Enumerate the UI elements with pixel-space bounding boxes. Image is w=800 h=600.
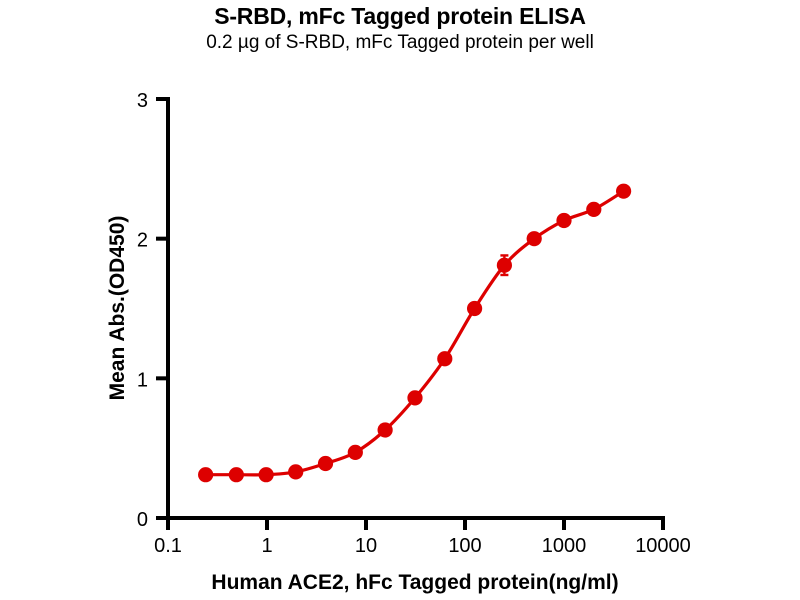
x-tick-label-3: 100 xyxy=(448,535,481,557)
y-tick-label-2: 2 xyxy=(137,230,148,252)
series-layer: 0.24 ng/ml, OD450 0.310.49 ng/ml, OD450 … xyxy=(198,184,631,483)
tick-label-layer: 0.11101001000100000123 xyxy=(137,90,691,557)
x-tick-label-0: 0.1 xyxy=(154,535,182,557)
x-tick-label-4: 1000 xyxy=(542,535,587,557)
elisa-chart-figure: S-RBD, mFc Tagged protein ELISA 0.2 µg o… xyxy=(0,0,800,600)
x-tick-label-1: 1 xyxy=(261,535,272,557)
data-point: 0.24 ng/ml, OD450 0.31 xyxy=(198,467,213,482)
x-tick-label-5: 10000 xyxy=(635,535,691,557)
data-point: 1.95 ng/ml, OD450 0.33 xyxy=(288,464,303,479)
y-tick-label-1: 1 xyxy=(137,369,148,391)
data-point: 1000 ng/ml, OD450 2.13 xyxy=(556,213,571,228)
data-point: 500 ng/ml, OD450 2 xyxy=(527,231,542,246)
plot-area: 0.24 ng/ml, OD450 0.310.49 ng/ml, OD450 … xyxy=(0,0,800,600)
data-point: 62.5 ng/ml, OD450 1.14 xyxy=(437,351,452,366)
x-tick-label-2: 10 xyxy=(355,535,377,557)
data-point: 7.8 ng/ml, OD450 0.47 xyxy=(348,445,363,460)
data-point: 31.25 ng/ml, OD450 0.86 xyxy=(407,390,422,405)
axis-layer xyxy=(156,99,663,530)
data-point: 15.6 ng/ml, OD450 0.63 xyxy=(378,422,393,437)
x-axis-title: Human ACE2, hFc Tagged protein(ng/ml) xyxy=(211,571,618,594)
data-point: 0.98 ng/ml, OD450 0.31 xyxy=(259,467,274,482)
data-point: 0.49 ng/ml, OD450 0.31 xyxy=(229,467,244,482)
data-point: 2000 ng/ml, OD450 2.21 xyxy=(586,202,601,217)
data-point: 125 ng/ml, OD450 1.5 xyxy=(467,301,482,316)
y-axis-title: Mean Abs.(OD450) xyxy=(106,216,129,401)
data-point: 3.9 ng/ml, OD450 0.39 xyxy=(318,456,333,471)
series-fit-curve-0 xyxy=(206,191,624,475)
y-tick-label-3: 3 xyxy=(137,90,148,112)
data-point: 4000 ng/ml, OD450 2.34 xyxy=(616,184,631,199)
axis-spines xyxy=(168,99,663,518)
data-point: 250 ng/ml, OD450 1.81 xyxy=(497,258,512,273)
y-tick-label-0: 0 xyxy=(137,509,148,531)
